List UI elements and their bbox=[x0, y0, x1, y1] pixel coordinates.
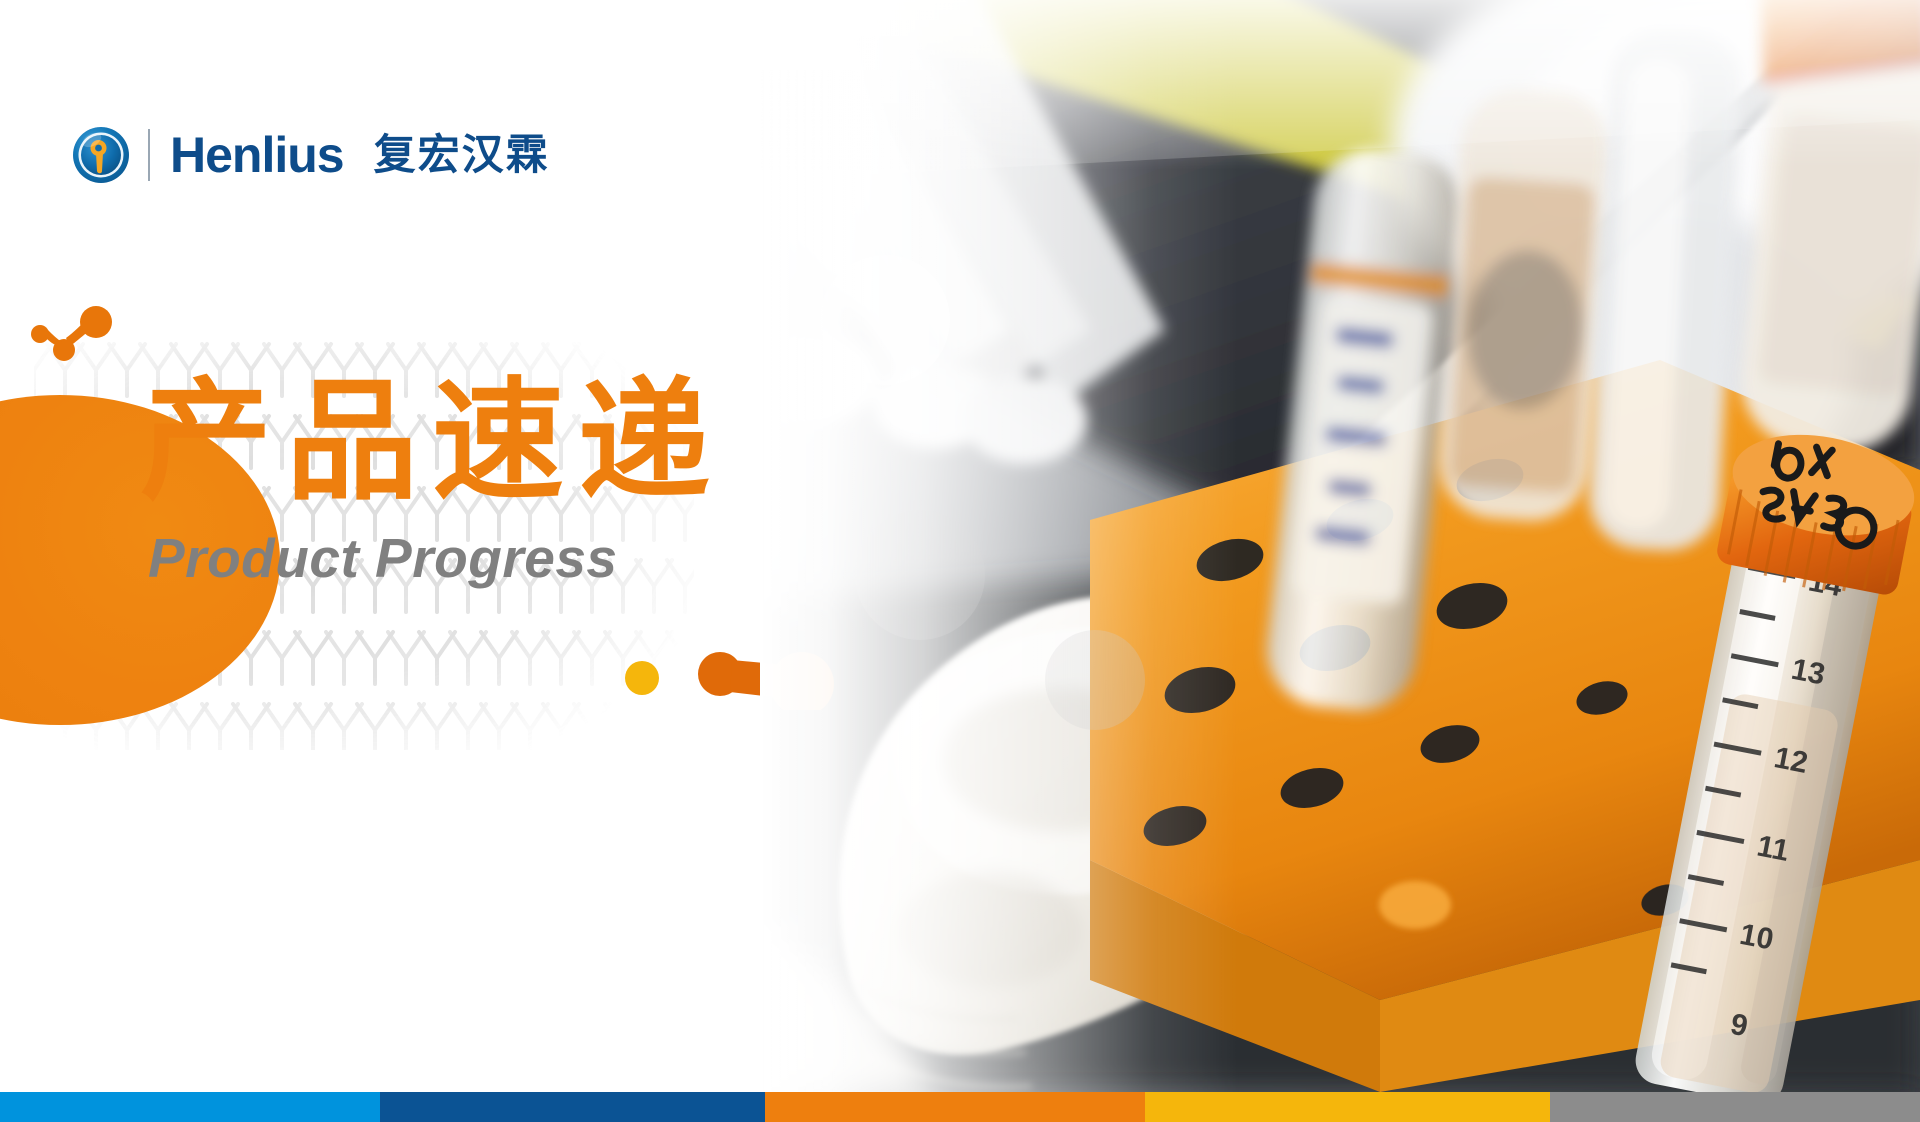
orange-dumbbell bbox=[698, 652, 834, 710]
bar-segment-dark-blue bbox=[380, 1092, 765, 1122]
molecule-decoration-top-icon bbox=[20, 300, 140, 390]
amber-dot bbox=[625, 661, 659, 695]
bottom-color-bar bbox=[0, 1092, 1920, 1122]
page-title-cn: 产品速递 bbox=[140, 368, 724, 516]
svg-text:13: 13 bbox=[1789, 653, 1828, 692]
molecule-decoration-subtitle-icon bbox=[620, 640, 860, 710]
svg-text:11: 11 bbox=[1754, 829, 1791, 867]
svg-text:12: 12 bbox=[1771, 741, 1810, 780]
lab-photo-illustration: Block bbox=[760, 0, 1920, 1092]
presentation-cover-slide: Block bbox=[0, 0, 1920, 1122]
logo-divider bbox=[148, 129, 150, 181]
bar-segment-orange bbox=[765, 1092, 1145, 1122]
bar-segment-gray bbox=[1550, 1092, 1920, 1122]
title-block: 产品速递 Product Progress bbox=[140, 368, 724, 590]
brand-name-en: Henlius bbox=[170, 130, 344, 180]
brand-logo[interactable]: Henlius 复宏汉霖 bbox=[72, 120, 550, 190]
brand-name-cn: 复宏汉霖 bbox=[374, 134, 550, 176]
page-subtitle-en: Product Progress bbox=[148, 526, 724, 590]
henlius-emblem-icon bbox=[72, 126, 130, 184]
bar-segment-amber bbox=[1145, 1092, 1550, 1122]
bar-segment-light-blue bbox=[0, 1092, 380, 1122]
svg-text:10: 10 bbox=[1737, 918, 1776, 957]
lab-photo: Block bbox=[760, 0, 1920, 1092]
